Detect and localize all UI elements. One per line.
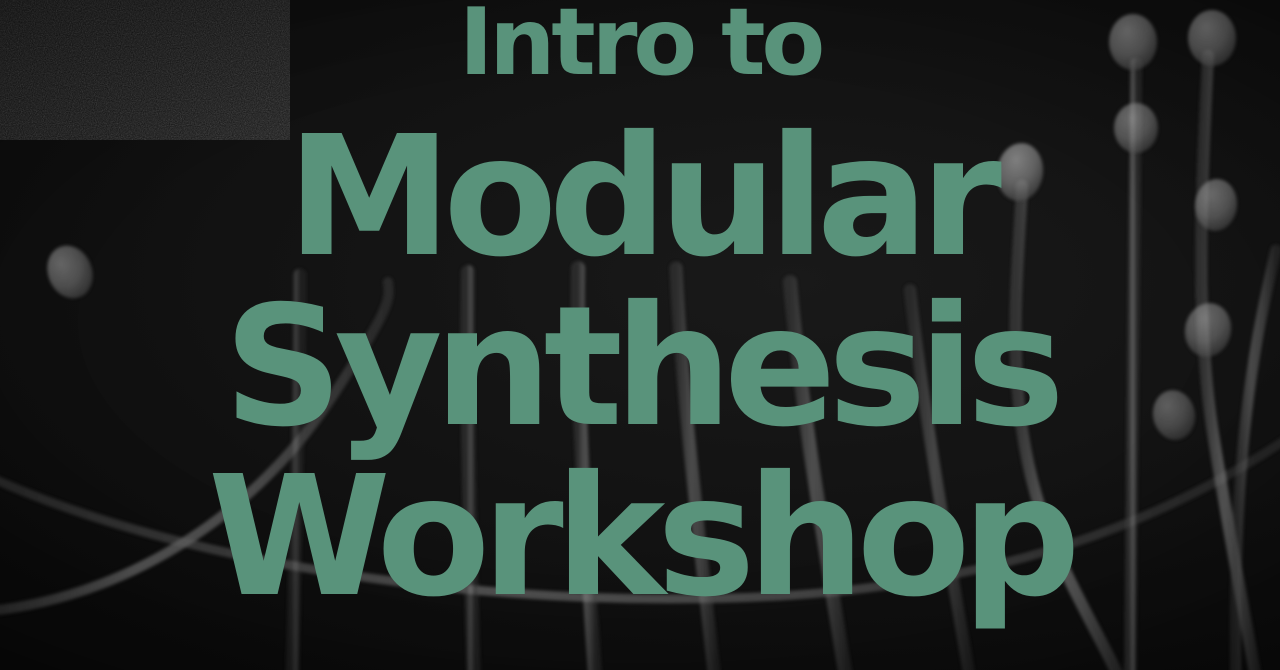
- cable-vertical-b: [467, 272, 474, 670]
- cable-vertical-f: [910, 290, 972, 670]
- plug-right-a: [1109, 14, 1157, 70]
- plug-left-top: [39, 239, 100, 306]
- cable-vertical-e: [790, 282, 848, 670]
- cable-vertical-d: [676, 268, 716, 670]
- plug-right-a-collar: [1114, 103, 1158, 153]
- cable-vertical-a: [292, 275, 300, 670]
- poster-canvas: Intro to Modular Synthesis Workshop: [0, 0, 1280, 670]
- patch-cable-artwork: [0, 0, 1280, 670]
- cable-vertical-c: [578, 268, 596, 670]
- plug-center-right: [993, 140, 1047, 204]
- cable-right-straight: [1130, 64, 1136, 670]
- cable-arc-left: [0, 282, 389, 612]
- plug-right-b: [1188, 10, 1236, 66]
- plug-right-c: [1180, 299, 1236, 361]
- plug-right-d: [1149, 387, 1199, 444]
- cable-right-long: [1016, 186, 1124, 670]
- cable-arc-sweep: [0, 430, 1280, 599]
